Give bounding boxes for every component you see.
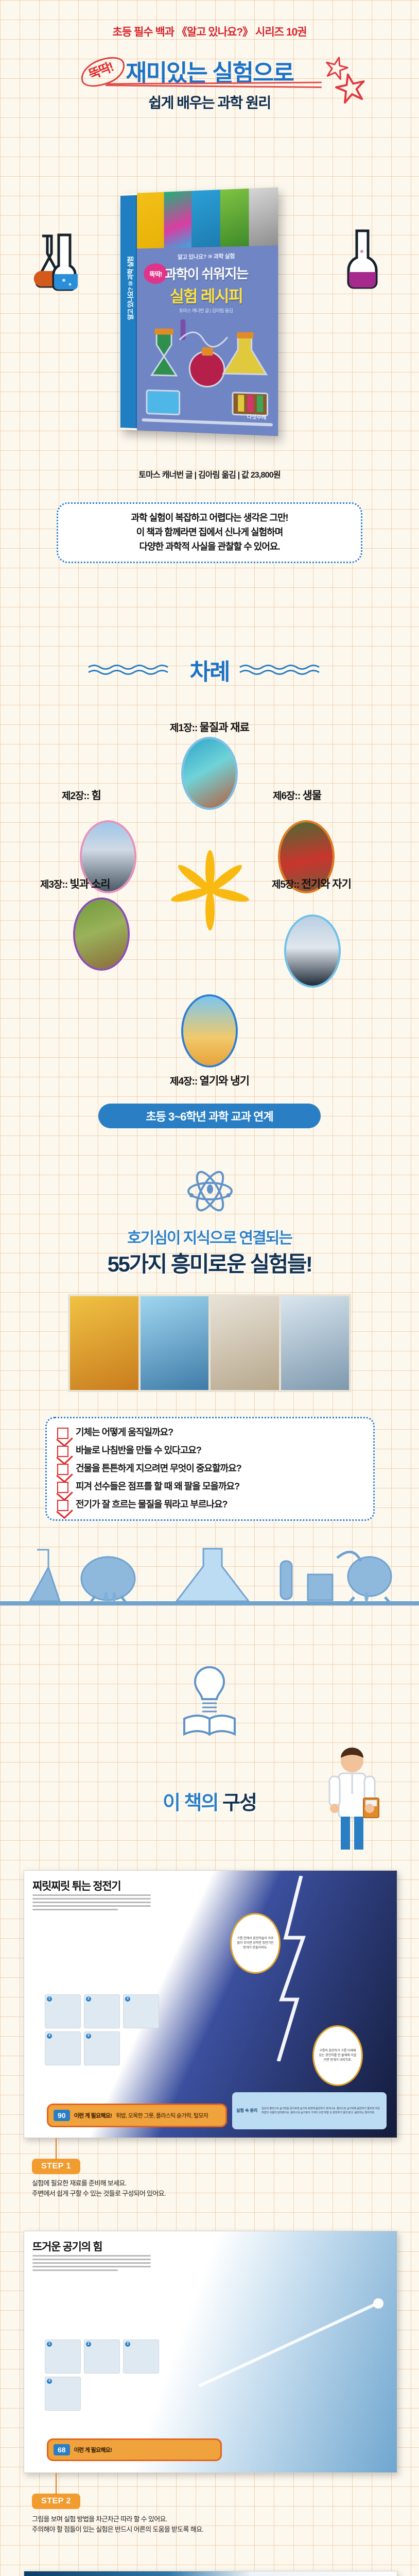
spread-1-title: 찌릿찌릿 튀는 정전기 xyxy=(32,1878,120,1893)
toc-chapter-1-label: 제1장:: 물질과 재료 xyxy=(0,719,419,735)
materials-label: 이런 게 필요해요! xyxy=(74,2446,112,2454)
checklist-text: 건물을 튼튼하게 지으려면 무엇이 중요할까요? xyxy=(76,1463,241,1475)
step-thumb: 1 xyxy=(45,2340,81,2374)
scientist-illustration xyxy=(319,1747,381,1850)
step-1-connector xyxy=(56,2138,57,2160)
spread-2-body xyxy=(32,2255,151,2273)
experiment-checklist: 기체는 어떻게 움직일까요? 바늘로 나침반을 만들 수 있다고요? 건물을 튼… xyxy=(45,1417,375,1521)
chapter-name: 전기와 자기 xyxy=(301,878,351,890)
book-spine: 알고 있나요? ⑩ 과학 실험 xyxy=(120,195,137,428)
toc-chapter-5-label: 제5장:: 전기와 자기 xyxy=(272,876,351,891)
materials-label: 이런 게 필요해요! xyxy=(74,2111,112,2120)
chapter-no: 제2장:: xyxy=(62,791,89,802)
flask-pair-icon xyxy=(25,227,85,296)
wave-left-icon xyxy=(88,663,180,676)
toc-chapter-4-image xyxy=(181,994,238,1067)
checkbox-checked-icon xyxy=(57,1428,68,1439)
chapter-no: 제5장:: xyxy=(272,879,299,890)
checklist-text: 피겨 선수들은 점프를 할 때 왜 팔을 모을까요? xyxy=(76,1481,239,1493)
chapter-name: 힘 xyxy=(91,790,100,802)
intro-line-1: 과학 실험이 복잡하고 어렵다는 생각은 그만! xyxy=(66,511,353,526)
checklist-text: 전기가 잘 흐르는 물질을 뭐라고 부르나요? xyxy=(76,1499,228,1511)
spread-2-step-thumbs: 1 2 3 4 xyxy=(45,2340,163,2411)
chapter-no: 제4장:: xyxy=(170,1076,197,1087)
hero-kicker: 초등 필수 백과 《알고 있나요?》 시리즈 10권 xyxy=(0,24,419,39)
toc-heading-row: 차례 xyxy=(0,653,419,689)
toc-chapter-1-image xyxy=(181,737,238,810)
book-cover: 알고 있나요? ⑩ 과학 실험 알고 있나요? ⑩ 과학 실험 뚝딱! 과학이 … xyxy=(120,187,278,436)
step-thumb: 4 xyxy=(45,2031,81,2065)
wave-right-icon xyxy=(239,663,331,676)
chapter-no: 제1장:: xyxy=(170,723,197,734)
checklist-text: 바늘로 나침반을 만들 수 있다고요? xyxy=(76,1445,201,1456)
intro-line-3: 다양한 과학적 사실을 관찰할 수 있어요. xyxy=(66,540,353,554)
toc-chapter-5-image xyxy=(284,914,341,988)
cover-photo-strip xyxy=(137,187,278,248)
chapter-name: 물질과 재료 xyxy=(200,722,249,734)
book-spine-text: 알고 있나요? ⑩ 과학 실험 xyxy=(126,243,135,333)
step-thumb: 5 xyxy=(84,2031,120,2065)
book-title-line1: 과학이 쉬워지는 xyxy=(137,262,278,283)
intro-callout-box: 과학 실험이 복잡하고 어렵다는 생각은 그만! 이 책과 함께라면 집에서 신… xyxy=(57,502,362,563)
title-underline xyxy=(106,82,322,87)
toc-chapter-4-label: 제4장:: 열기와 냉기 xyxy=(0,1073,419,1088)
spread-1-body xyxy=(32,1894,151,1912)
spread-1-materials-bar: 90 이런 게 필요해요! 튀밥, 오목한 그릇, 플라스틱 숟가락, 털모자 xyxy=(47,2104,227,2127)
book-series-label: 알고 있나요? ⑩ 과학 실험 xyxy=(137,251,278,262)
book-credit-line: 토마스 캐너번 글 | 김아림 옮김 | 값 23,800원 xyxy=(0,468,419,480)
checklist-item: 피겨 선수들은 점프를 할 때 왜 팔을 모을까요? xyxy=(57,1481,363,1493)
chapter-no: 제6장:: xyxy=(273,791,300,802)
materials-items: 튀밥, 오목한 그릇, 플라스틱 숟가락, 털모자 xyxy=(116,2111,208,2120)
chapter-name: 열기와 냉기 xyxy=(200,1075,249,1087)
spread-1-step-thumbs: 1 2 3 4 5 xyxy=(45,1994,163,2065)
experiments-heading-big: 55가지 흥미로운 실험들! xyxy=(0,1247,419,1278)
step-thumb: 2 xyxy=(84,2340,120,2374)
toc-chapter-3-label: 제3장:: 빛과 소리 xyxy=(40,876,110,891)
checklist-item: 전기가 잘 흐르는 물질을 뭐라고 부르나요? xyxy=(57,1499,363,1511)
page-spread-1: 찌릿찌릿 튀는 정전기 1 2 3 4 5 구름 안에서 음전하들이 아주 많이… xyxy=(24,1870,397,2138)
step-2-note: 그림을 보며 실험 방법을 차근차근 따라 할 수 있어요. 주의해야 할 점들… xyxy=(32,2514,361,2534)
book-publisher: 다섯수레 xyxy=(247,412,267,421)
principle-label: 실험 속 원리 xyxy=(236,2108,257,2113)
page-spread-2: 뜨거운 공기의 힘 1 2 3 4 68 이런 게 필요해요! xyxy=(24,2231,397,2473)
chapter-name: 빛과 소리 xyxy=(69,878,110,890)
curriculum-badge: 초등 3~6학년 과학 교과 연계 xyxy=(98,1104,321,1128)
spread-2-materials-bar: 68 이런 게 필요해요! xyxy=(47,2438,222,2461)
book-front: 알고 있나요? ⑩ 과학 실험 뚝딱! 과학이 쉬워지는 실험 레시피 토마스 … xyxy=(137,187,278,436)
step-2-connector xyxy=(56,2473,57,2495)
lightbulb-book-icon xyxy=(181,1664,238,1736)
step-thumb: 3 xyxy=(123,1994,159,2028)
checklist-item: 건물을 튼튼하게 지으려면 무엇이 중요할까요? xyxy=(57,1463,363,1475)
checklist-text: 기체는 어떻게 움직일까요? xyxy=(76,1427,173,1438)
page-number: 68 xyxy=(54,2444,70,2455)
page-number: 90 xyxy=(54,2110,70,2121)
structure-title-a: 이 책의 xyxy=(163,1792,218,1814)
step-2-badge: STEP 2 xyxy=(32,2494,80,2509)
experiments-heading-small: 호기심이 지식으로 연결되는 xyxy=(0,1225,419,1248)
flask-purple-icon xyxy=(342,226,383,300)
spread-1-callout-2: 구름의 음전하가 구름 아래에 있는 양전하를 띤 물체에 이끌리면 번개가 내… xyxy=(312,2025,363,2086)
page-spread-3: 빛의 굴절 1 2 3 4 5 54 이런 게 필요해요! xyxy=(24,2571,397,2576)
step-1-note: 실험에 필요한 재료를 준비해 보세요. 주변에서 쉽게 구할 수 있는 것들로… xyxy=(32,2178,351,2198)
step-thumb: 4 xyxy=(45,2377,81,2411)
chapter-name: 생물 xyxy=(302,790,321,802)
spread-2-title: 뜨거운 공기의 힘 xyxy=(32,2239,102,2254)
spread-1-principle-box: 실험 속 원리 일상의 플라스틱 숟가락을 문지르면 숟가락 표면에 음전하가 … xyxy=(232,2092,387,2129)
toc-chapter-2-label: 제2장:: 힘 xyxy=(62,787,101,803)
checkbox-checked-icon xyxy=(57,1464,68,1475)
intro-line-2: 이 책과 함께라면 집에서 신나게 실험하며 xyxy=(66,526,353,540)
atom-icon xyxy=(185,1166,235,1216)
chapter-no: 제3장:: xyxy=(40,879,67,890)
step-thumb: 2 xyxy=(84,1994,120,2028)
checkbox-checked-icon xyxy=(57,1500,68,1511)
checklist-item: 기체는 어떻게 움직일까요? xyxy=(57,1427,363,1439)
lab-equipment-band xyxy=(0,1540,419,1623)
checklist-item: 바늘로 나침반을 만들 수 있다고요? xyxy=(57,1445,363,1457)
principle-text: 일상의 플라스틱 숟가락을 문지르면 숟가락 표면에 음전하가 생겨나요. 플라… xyxy=(261,2107,382,2115)
promo-page: 초등 필수 백과 《알고 있나요?》 시리즈 10권 뚝딱! 재미있는 실험으로… xyxy=(0,0,419,2576)
cover-lab-illustration xyxy=(137,319,278,422)
book-byline: 토마스 캐너번 글 | 김아림 옮김 xyxy=(137,307,278,314)
spread-1-callout-1: 구름 안에서 음전하들이 아주 많이 모이면 강력한 정전기인 번개가 만들어져… xyxy=(230,1913,281,1974)
experiment-photo-strip xyxy=(68,1294,351,1392)
checkbox-checked-icon xyxy=(57,1482,68,1493)
toc-chapter-3-image xyxy=(73,897,130,971)
checkbox-checked-icon xyxy=(57,1446,68,1457)
flower-decoration xyxy=(184,850,235,927)
toc-chapter-6-label: 제6장:: 생물 xyxy=(273,787,321,803)
structure-title-b: 구성 xyxy=(222,1792,256,1814)
book-title-line2: 실험 레시피 xyxy=(137,282,278,307)
step-thumb: 1 xyxy=(45,1994,81,2028)
step-1-badge: STEP 1 xyxy=(32,2159,80,2174)
step-thumb: 3 xyxy=(123,2340,159,2374)
toc-heading: 차례 xyxy=(190,653,230,686)
